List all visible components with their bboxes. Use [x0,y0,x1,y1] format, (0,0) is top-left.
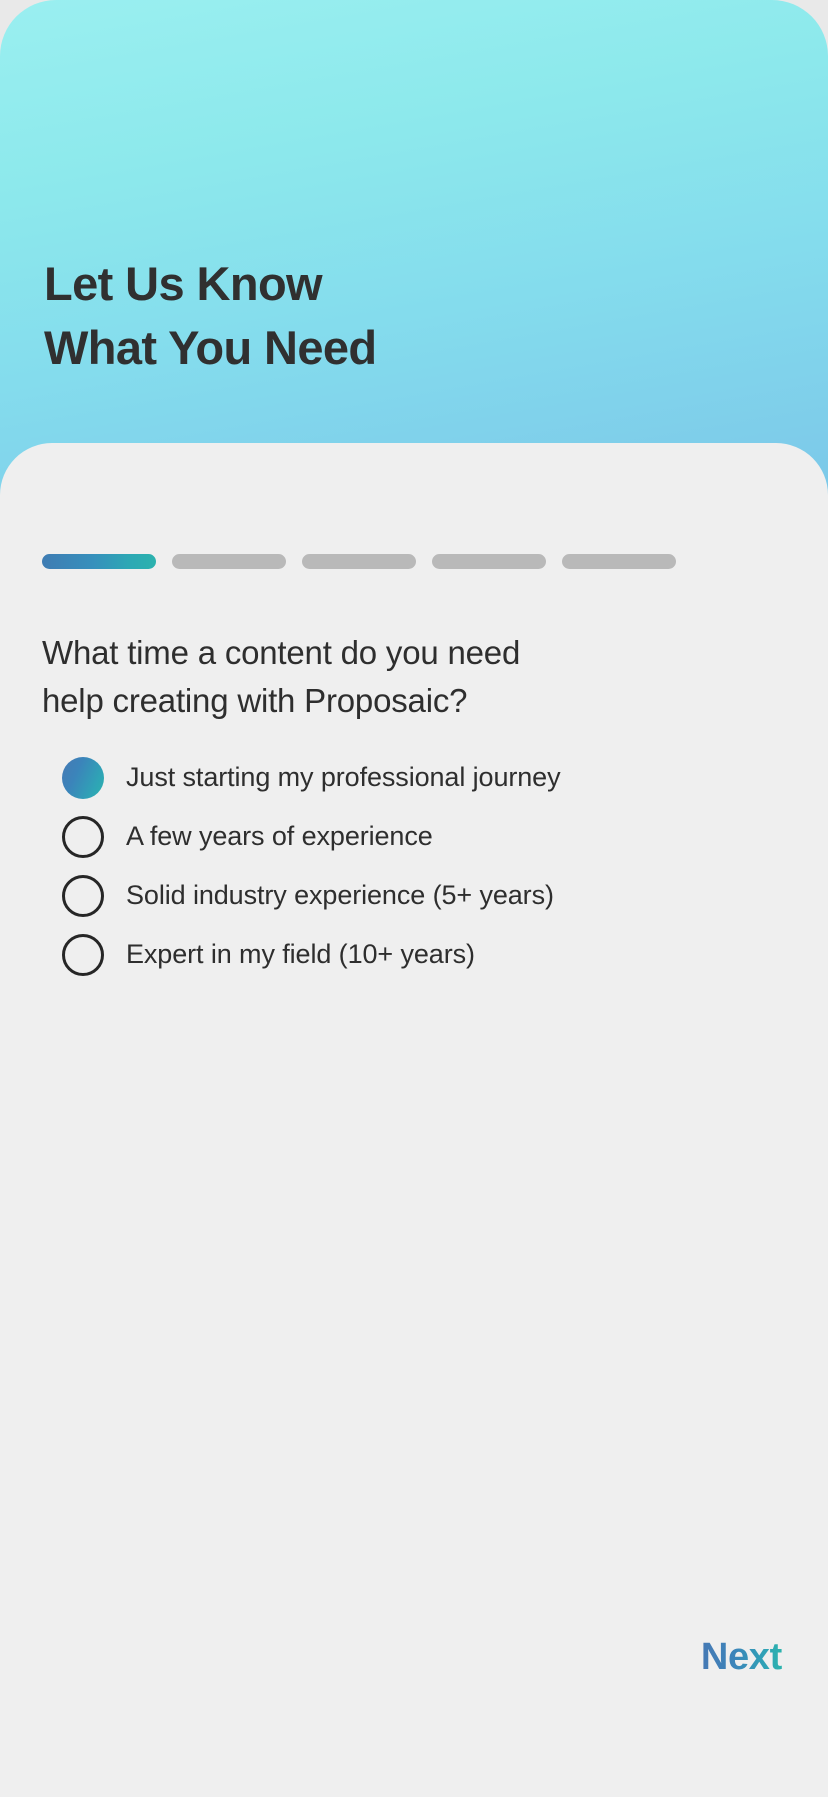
radio-unselected-icon[interactable] [62,934,104,976]
radio-unselected-icon[interactable] [62,875,104,917]
app-screen: Let Us Know What You Need What time a co… [0,0,828,1797]
radio-selected-icon[interactable] [62,757,104,799]
progress-step-2[interactable] [172,554,286,569]
content-card: What time a content do you need help cre… [0,443,828,1797]
page-title: Let Us Know What You Need [44,252,377,380]
next-button[interactable]: Next [701,1636,782,1679]
option-label-3: Solid industry experience (5+ years) [126,880,554,911]
header-banner: Let Us Know What You Need [0,0,828,520]
option-row-1[interactable]: Just starting my professional journey [62,748,762,807]
progress-step-3[interactable] [302,554,416,569]
option-label-4: Expert in my field (10+ years) [126,939,475,970]
radio-unselected-icon[interactable] [62,816,104,858]
option-row-2[interactable]: A few years of experience [62,807,762,866]
progress-indicator [42,554,682,569]
option-label-1: Just starting my professional journey [126,762,561,793]
option-row-4[interactable]: Expert in my field (10+ years) [62,925,762,984]
progress-step-5[interactable] [562,554,676,569]
options-list: Just starting my professional journey A … [62,748,762,984]
option-row-3[interactable]: Solid industry experience (5+ years) [62,866,762,925]
progress-step-1[interactable] [42,554,156,569]
progress-step-4[interactable] [432,554,546,569]
question-text: What time a content do you need help cre… [42,629,662,725]
option-label-2: A few years of experience [126,821,433,852]
